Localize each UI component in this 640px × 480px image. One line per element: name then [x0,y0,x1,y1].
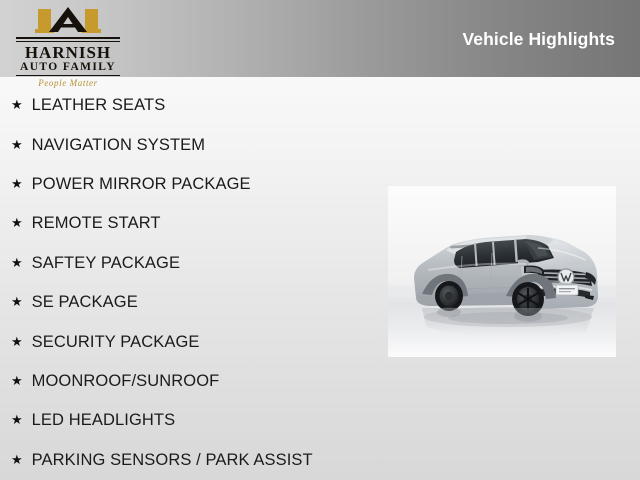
star-icon: ★ [11,138,23,151]
list-item-label: NAVIGATION SYSTEM [32,136,205,155]
star-icon: ★ [11,98,23,111]
list-item-label: PARKING SENSORS / PARK ASSIST [32,451,313,470]
list-item-label: SECURITY PACKAGE [32,333,200,352]
list-item: ★ NAVIGATION SYSTEM [0,125,390,164]
vehicle-photo [388,186,616,357]
list-item: ★ SAFTEY PACKAGE [0,244,390,283]
list-item-label: POWER MIRROR PACKAGE [32,175,251,194]
list-item-label: LEATHER SEATS [32,96,166,115]
page-title: Vehicle Highlights [462,29,615,50]
logo-name-primary: HARNISH [12,44,124,61]
list-item-label: SE PACKAGE [32,293,138,312]
list-item-label: MOONROOF/SUNROOF [32,372,220,391]
star-icon: ★ [11,413,23,426]
star-icon: ★ [11,295,23,308]
logo-name-secondary: AUTO FAMILY [12,62,124,74]
star-icon: ★ [11,177,23,190]
list-item-label: REMOTE START [32,214,161,233]
logo-divider-bottom [16,75,120,76]
logo-divider-top [16,37,120,42]
list-item: ★ PARKING SENSORS / PARK ASSIST [0,441,390,480]
list-item-label: LED HEADLIGHTS [32,411,176,430]
list-item: ★ POWER MIRROR PACKAGE [0,165,390,204]
list-item: ★ LEATHER SEATS [0,86,390,125]
vehicle-highlights-page: HARNISH AUTO FAMILY People Matter Vehicl… [0,0,640,480]
list-item: ★ LED HEADLIGHTS [0,401,390,440]
star-icon: ★ [11,335,23,348]
list-item: ★ MOONROOF/SUNROOF [0,362,390,401]
list-item: ★ SE PACKAGE [0,283,390,322]
header-bar: HARNISH AUTO FAMILY People Matter Vehicl… [0,0,640,77]
star-icon: ★ [11,374,23,387]
star-icon: ★ [11,216,23,229]
star-icon: ★ [11,256,23,269]
harnish-arch-emblem-icon [12,6,124,36]
list-item: ★ REMOTE START [0,204,390,243]
dealer-logo: HARNISH AUTO FAMILY People Matter [12,6,124,74]
vehicle-highlights-list: ★ LEATHER SEATS ★ NAVIGATION SYSTEM ★ PO… [0,86,390,480]
star-icon: ★ [11,453,23,466]
list-item-label: SAFTEY PACKAGE [32,254,180,273]
list-item: ★ SECURITY PACKAGE [0,322,390,361]
